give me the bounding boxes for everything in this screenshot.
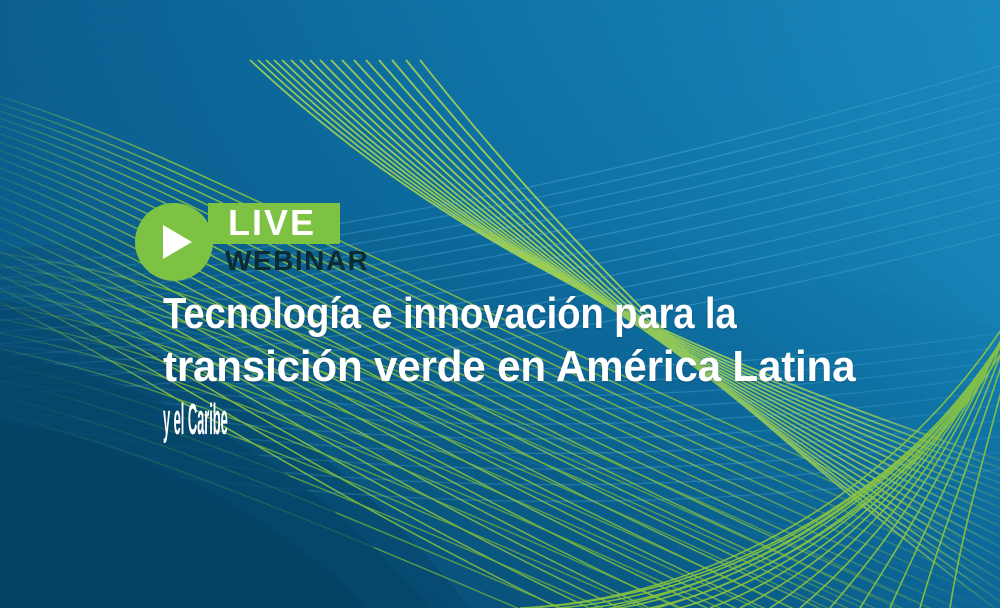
play-triangle-icon bbox=[163, 225, 192, 259]
live-label-box: LIVE bbox=[208, 203, 340, 244]
title-line-1: Tecnología e innovación para la bbox=[163, 287, 737, 340]
title-line-3: y el Caribe bbox=[163, 393, 228, 446]
webinar-label: WEBINAR bbox=[225, 245, 369, 277]
play-button-circle[interactable] bbox=[135, 203, 213, 281]
banner-title: Tecnología e innovación para la transici… bbox=[163, 287, 973, 446]
live-webinar-banner: LIVE WEBINAR Tecnología e innovación par… bbox=[0, 0, 1000, 608]
live-label: LIVE bbox=[228, 202, 316, 243]
title-line-2: transición verde en América Latina bbox=[163, 340, 855, 393]
live-webinar-badge: LIVE WEBINAR bbox=[135, 203, 435, 283]
